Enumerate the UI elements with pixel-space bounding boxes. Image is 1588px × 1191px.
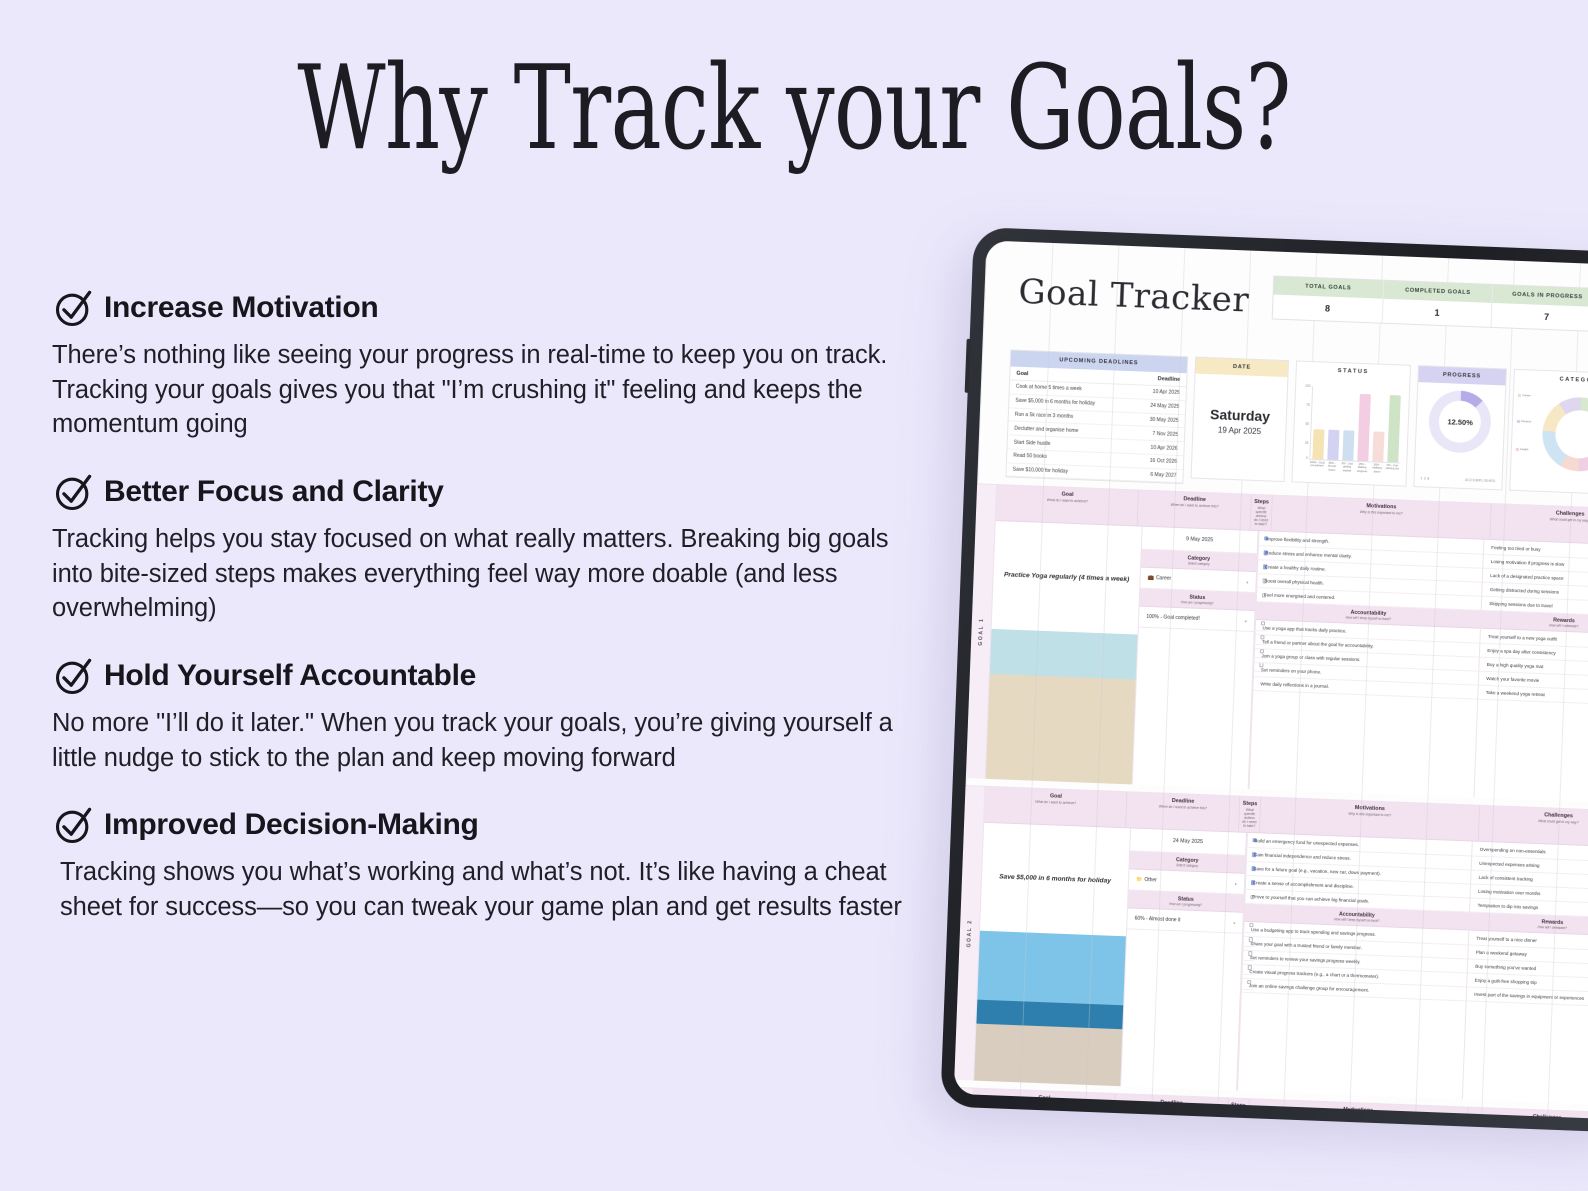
- goal-block: GOAL 2GoalWhat do I want to achieve?Dead…: [954, 786, 1588, 1107]
- stat-value-cell: 1: [1382, 299, 1493, 327]
- chart-bar: [1357, 394, 1371, 462]
- category-emoji-icon: 💼: [1148, 575, 1154, 581]
- chevron-down-icon[interactable]: ▾: [1246, 580, 1248, 585]
- status-chart-card: STATUS 100 75 50 25 0 100% - Goal comple…: [1292, 360, 1411, 486]
- challenge-row[interactable]: Invest part of the savings in equipment …: [1467, 988, 1588, 1008]
- chevron-down-icon[interactable]: ▾: [1233, 920, 1235, 925]
- benefit-header: Better Focus and Clarity: [52, 470, 912, 514]
- benefit-title: Better Focus and Clarity: [104, 475, 444, 509]
- goal-body: GoalWhat do I want to achieve?DeadlineWh…: [974, 787, 1588, 1106]
- benefit-body: There’s nothing like seeing your progres…: [52, 338, 912, 442]
- goal-column: Practice Yoga regularly (4 times a week): [986, 521, 1143, 784]
- column-header-challenges: ChallengesWhat could get in my way?: [1467, 1108, 1588, 1120]
- chart-x-label: 0% - Just starting out: [1385, 464, 1400, 475]
- column-header-goal: GoalWhat do I want to achieve?: [996, 485, 1140, 525]
- card-title: CATEGORY: [1514, 370, 1588, 391]
- status-select[interactable]: 100% - Goal completed!▾: [1139, 607, 1254, 632]
- column-header-deadline: DeadlineWhen do I want to achieve this?: [1126, 793, 1239, 832]
- upcoming-deadlines-card: UPCOMING DEADLINES Goal Deadline Cook at…: [1005, 349, 1188, 484]
- tablet-mockup: Goal Tracker A goal TOTAL GOALS COMPLETE…: [940, 227, 1588, 1133]
- goal-body: GoalWhat do I want to achieve?DeadlineWh…: [986, 485, 1588, 804]
- page-title: Why Track your Goals?: [206, 48, 1381, 171]
- check-circle-icon: [52, 654, 96, 698]
- column-header-steps: StepsWhat specific actions do I need to …: [1239, 797, 1262, 833]
- deadline-column: 24 May 2025CategorySelect category📁Other…: [1121, 829, 1247, 1091]
- chart-x-label: 50% - Halfway there!: [1369, 463, 1384, 474]
- chart-bar: [1328, 429, 1340, 460]
- goal-rail-label: GOAL 2: [966, 920, 973, 948]
- benefit-item: Better Focus and Clarity Tracking helps …: [52, 470, 912, 626]
- chart-x-label: 25% - Making progress: [1354, 463, 1369, 474]
- goal-rail: GOAL 3: [954, 1088, 974, 1119]
- goal-block: GOAL 1GoalWhat do I want to achieve?Dead…: [966, 484, 1588, 805]
- challenge-column: Feeling too tired or busyLosing motivati…: [1475, 540, 1588, 804]
- goal-name[interactable]: Practice Yoga regularly (4 times a week): [992, 521, 1142, 635]
- check-circle-icon: [52, 286, 96, 330]
- category-donut: [1541, 396, 1588, 473]
- motivation-column: Build an emergency fund for unexpected e…: [1238, 833, 1473, 1099]
- widget-row: UPCOMING DEADLINES Goal Deadline Cook at…: [977, 344, 1588, 502]
- goal-photo: [986, 629, 1138, 784]
- challenge-row[interactable]: Take a weekend yoga retreat: [1479, 686, 1588, 706]
- goal-columns: Practice Yoga regularly (4 times a week)…: [986, 521, 1588, 804]
- benefit-body: No more "I’ll do it later." When you tra…: [52, 706, 912, 775]
- progress-footer-left: 1 2 8: [1420, 476, 1429, 480]
- check-circle-icon: [52, 803, 96, 847]
- legend-item: Health: [1516, 448, 1529, 452]
- goal-name[interactable]: Save $5,000 in 6 months for holiday: [980, 823, 1130, 937]
- tablet-screen[interactable]: Goal Tracker A goal TOTAL GOALS COMPLETE…: [954, 240, 1588, 1119]
- column-header-deadline: DeadlineWhen do I want to achieve this?: [1138, 491, 1251, 530]
- challenge-column: Overspending on non-essentialsUnexpected…: [1463, 842, 1588, 1106]
- tablet-frame: Goal Tracker A goal TOTAL GOALS COMPLETE…: [940, 227, 1588, 1133]
- benefit-title: Increase Motivation: [104, 291, 378, 325]
- goal-column: Save $5,000 in 6 months for holiday: [974, 823, 1131, 1086]
- benefits-list: Increase Motivation There’s nothing like…: [52, 286, 912, 925]
- status-bar-chart: [1310, 386, 1403, 463]
- chart-x-label: 100% - Goal completed!: [1309, 461, 1324, 472]
- deadlines-body: Cook at home 5 times a week10 Apr 2025Sa…: [1006, 380, 1185, 483]
- legend-item: Career: [1518, 394, 1531, 398]
- spreadsheet-app[interactable]: Goal Tracker A goal TOTAL GOALS COMPLETE…: [954, 240, 1588, 1119]
- chart-bar: [1372, 431, 1384, 462]
- progress-donut: 12.50%: [1428, 390, 1492, 454]
- column-header-goal: GoalWhat do I want to achieve?: [984, 787, 1128, 827]
- progress-percent: 12.50%: [1447, 417, 1473, 427]
- date-content: Saturday 19 Apr 2025: [1193, 406, 1286, 438]
- progress-footer: 1 2 8 ACCOMPLISHED: [1420, 476, 1495, 483]
- stat-value-cell: 7: [1492, 303, 1588, 331]
- benefit-title: Improved Decision-Making: [104, 808, 479, 842]
- chart-bar: [1387, 395, 1401, 463]
- benefit-item: Increase Motivation There’s nothing like…: [52, 286, 912, 442]
- benefit-body: Tracking shows you what’s working and wh…: [52, 855, 912, 924]
- goal-table[interactable]: GOAL 1GoalWhat do I want to achieve?Dead…: [954, 484, 1588, 1120]
- chart-bar: [1313, 429, 1325, 460]
- benefit-title: Hold Yourself Accountable: [104, 659, 476, 693]
- category-card: CATEGORY CareerFinanceHealthOtherPersona…: [1509, 369, 1588, 496]
- card-title: PROGRESS: [1418, 366, 1506, 385]
- chevron-down-icon[interactable]: ▾: [1245, 619, 1247, 624]
- column-header-steps: StepsWhat specific actions do I need to …: [1227, 1099, 1250, 1120]
- progress-card: PROGRESS 12.50% 1 2 8 ACCOMPLISHED: [1413, 365, 1507, 490]
- column-header-challenges: ChallengesWhat could get in my way?: [1490, 504, 1588, 545]
- column-header-steps: StepsWhat specific actions do I need to …: [1250, 495, 1273, 531]
- benefit-header: Hold Yourself Accountable: [52, 654, 912, 698]
- card-title: DATE: [1195, 358, 1288, 378]
- deadlines-table: Goal Deadline Cook at home 5 times a wee…: [1006, 366, 1186, 483]
- chart-x-label: 80% - Almost there!: [1324, 462, 1339, 473]
- goal-photo: [974, 931, 1126, 1086]
- chart-x-label: 5% - Just getting started: [1339, 462, 1354, 473]
- deadline-column: 9 May 2025CategorySelect category💼Career…: [1133, 527, 1259, 789]
- progress-footer-right: ACCOMPLISHED: [1465, 478, 1495, 483]
- column-header-motivations: MotivationsWhy is this important to me?: [1249, 1100, 1468, 1120]
- date-day: Saturday: [1194, 406, 1287, 426]
- app-title: Goal Tracker: [1018, 272, 1250, 321]
- benefit-item: Hold Yourself Accountable No more "I’ll …: [52, 654, 912, 775]
- deadline-date-cell: 6 May 2027: [1128, 467, 1183, 483]
- benefit-item: Improved Decision-Making Tracking shows …: [52, 803, 912, 924]
- category-emoji-icon: 📁: [1136, 877, 1142, 883]
- card-title: STATUS: [1297, 361, 1410, 381]
- stats-strip: TOTAL GOALS COMPLETED GOALS GOALS IN PRO…: [1272, 275, 1588, 332]
- stat-value-cell: 8: [1273, 295, 1384, 323]
- chart-bar: [1342, 430, 1354, 461]
- column-header-challenges: ChallengesWhat could get in my way?: [1478, 806, 1588, 847]
- date-value: 19 Apr 2025: [1193, 425, 1286, 438]
- date-card: DATE Saturday 19 Apr 2025: [1190, 357, 1289, 483]
- status-select[interactable]: 60% - Almost done it▾: [1127, 909, 1242, 934]
- legend-item: Finance: [1517, 420, 1532, 424]
- column-header-deadline: DeadlineWhen do I want to achieve this?: [1115, 1095, 1228, 1120]
- check-circle-icon: [52, 470, 96, 514]
- benefit-header: Increase Motivation: [52, 286, 912, 330]
- chart-x-labels: 100% - Goal completed!80% - Almost there…: [1309, 461, 1400, 475]
- chevron-down-icon[interactable]: ▾: [1235, 881, 1237, 886]
- goal-columns: Save $5,000 in 6 months for holiday24 Ma…: [974, 823, 1588, 1106]
- goal-rail-label: GOAL 1: [977, 618, 984, 646]
- benefit-header: Improved Decision-Making: [52, 803, 912, 847]
- column-header-goal: GoalWhat do I want to achieve?: [973, 1089, 1117, 1120]
- motivation-column: Improve flexibility and strength.Reduce …: [1249, 532, 1484, 798]
- benefit-body: Tracking helps you stay focused on what …: [52, 522, 912, 626]
